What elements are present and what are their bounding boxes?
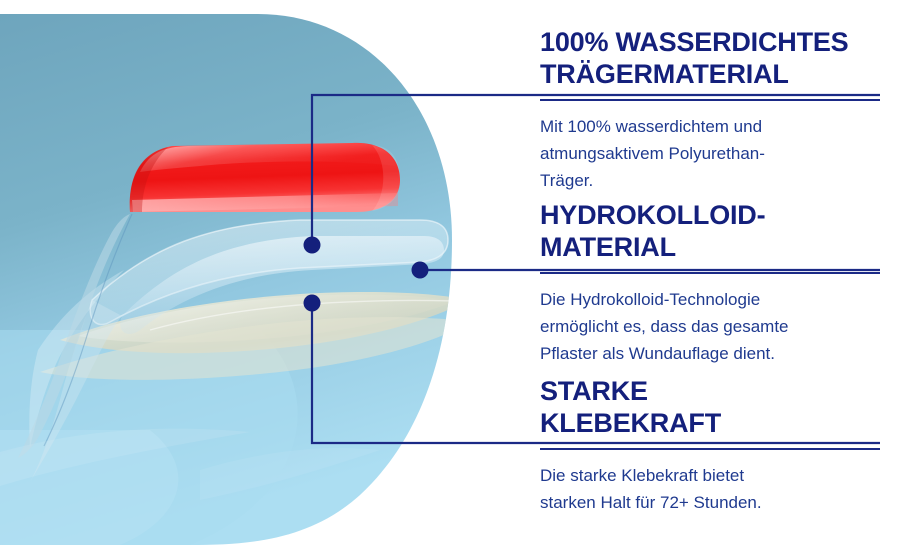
feature-heading-hydrokolloid: HYDROKOLLOID- MATERIAL [540,199,885,263]
feature-traegermaterial: 100% WASSERDICHTES TRÄGERMATERIAL Mit 10… [540,26,885,194]
feature-body-klebekraft: Die starke Klebekraft bietet starken Hal… [540,462,885,516]
feature-body-traegermaterial: Mit 100% wasserdichtem und atmungsaktive… [540,113,885,194]
feature-klebekraft: STARKE KLEBEKRAFT Die starke Klebekraft … [540,375,885,516]
feature-divider-hydrokolloid [540,272,880,274]
feature-divider-klebekraft [540,448,880,450]
product-feature-infographic: 100% WASSERDICHTES TRÄGERMATERIAL Mit 10… [0,0,900,557]
carrier-layer [130,143,400,212]
feature-hydrokolloid: HYDROKOLLOID- MATERIAL Die Hydrokolloid-… [540,199,885,367]
feature-heading-klebekraft: STARKE KLEBEKRAFT [540,375,885,439]
layered-plaster-illustration [0,0,470,557]
illustration-panel [0,0,470,557]
feature-heading-traegermaterial: 100% WASSERDICHTES TRÄGERMATERIAL [540,26,885,90]
feature-list: 100% WASSERDICHTES TRÄGERMATERIAL Mit 10… [540,0,885,557]
feature-body-hydrokolloid: Die Hydrokolloid-Technologie ermöglicht … [540,286,885,367]
feature-divider-traegermaterial [540,99,880,101]
